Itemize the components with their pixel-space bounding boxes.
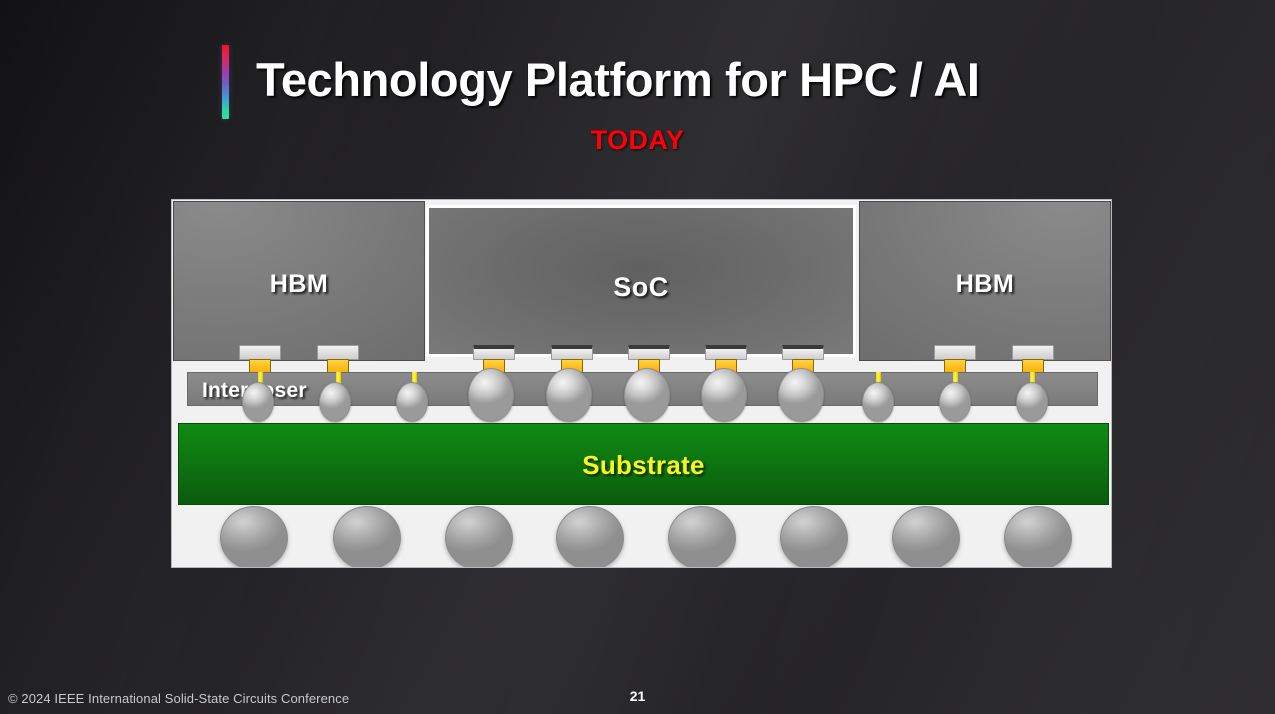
c4-bump <box>242 382 274 422</box>
c4-bump <box>468 368 514 422</box>
bga-ball <box>780 506 848 568</box>
microbump-pad <box>705 345 747 360</box>
c4-bump <box>701 368 747 422</box>
substrate-label: Substrate <box>179 450 1108 481</box>
substrate-layer: Substrate <box>178 423 1109 505</box>
bga-ball <box>556 506 624 568</box>
bga-ball <box>668 506 736 568</box>
microbump-pad <box>934 345 976 360</box>
slide-subtitle: TODAY <box>0 125 1275 156</box>
bga-ball <box>333 506 401 568</box>
microbump-pad <box>317 345 359 360</box>
microbump-pad <box>782 345 824 360</box>
c4-bump <box>396 382 428 422</box>
page-title: Technology Platform for HPC / AI <box>256 52 1156 107</box>
die-hbm-left-label: HBM <box>174 270 424 299</box>
die-hbm-left: HBM <box>173 201 425 361</box>
bga-ball <box>220 506 288 568</box>
microbump-pad <box>473 345 515 360</box>
c4-bump <box>939 382 971 422</box>
page-number: 21 <box>0 688 1275 704</box>
c4-bump <box>778 368 824 422</box>
microbump-pad <box>551 345 593 360</box>
bga-ball <box>445 506 513 568</box>
c4-bump <box>319 382 351 422</box>
package-cross-section-diagram: HBM SoC HBM Interposer Substrate <box>171 199 1112 568</box>
bga-ball <box>892 506 960 568</box>
c4-bump <box>1016 382 1048 422</box>
c4-bump <box>862 382 894 422</box>
c4-bump <box>546 368 592 422</box>
die-hbm-right: HBM <box>859 201 1111 361</box>
slide-canvas: Technology Platform for HPC / AI TODAY H… <box>0 0 1275 714</box>
bga-ball <box>1004 506 1072 568</box>
die-hbm-right-label: HBM <box>860 270 1110 299</box>
microbump-pad <box>239 345 281 360</box>
die-soc-label: SoC <box>429 272 853 303</box>
microbump-pad <box>628 345 670 360</box>
microbump-pad <box>1012 345 1054 360</box>
die-soc: SoC <box>426 205 856 357</box>
c4-bump <box>624 368 670 422</box>
title-accent-bar <box>222 45 229 119</box>
